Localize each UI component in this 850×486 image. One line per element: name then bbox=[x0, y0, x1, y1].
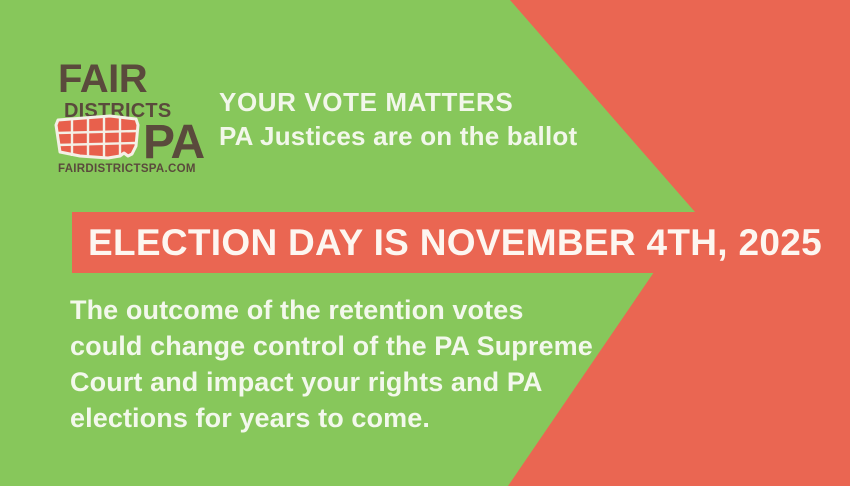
logo-url: FAIRDISTRICTSPA.COM bbox=[58, 163, 196, 175]
logo: FAIR DISTRICTS PA FAIRDISTRICTSPA.COM bbox=[50, 50, 215, 175]
body-line: The outcome of the retention votes bbox=[70, 292, 630, 328]
body-line: could change control of the PA Supreme bbox=[70, 328, 630, 364]
body-line: elections for years to come. bbox=[70, 400, 630, 436]
headline-line-1: YOUR VOTE MATTERS bbox=[219, 85, 639, 119]
pennsylvania-district-map-icon bbox=[56, 116, 138, 158]
logo-svg: FAIR DISTRICTS PA FAIRDISTRICTSPA.COM bbox=[50, 50, 215, 175]
election-day-banner: ELECTION DAY IS NOVEMBER 4TH, 2025 bbox=[72, 212, 850, 273]
campaign-graphic: FAIR DISTRICTS PA FAIRDISTRICTSPA.COM bbox=[0, 0, 850, 486]
pa-state-outline bbox=[56, 116, 138, 158]
headline-block: YOUR VOTE MATTERS PA Justices are on the… bbox=[219, 85, 639, 153]
headline-line-2: PA Justices are on the ballot bbox=[219, 119, 639, 153]
body-paragraph: The outcome of the retention votes could… bbox=[70, 292, 630, 436]
logo-word-pa: PA bbox=[143, 116, 204, 169]
election-day-banner-text: ELECTION DAY IS NOVEMBER 4TH, 2025 bbox=[88, 222, 822, 264]
body-line: Court and impact your rights and PA bbox=[70, 364, 630, 400]
logo-word-fair: FAIR bbox=[58, 57, 148, 101]
